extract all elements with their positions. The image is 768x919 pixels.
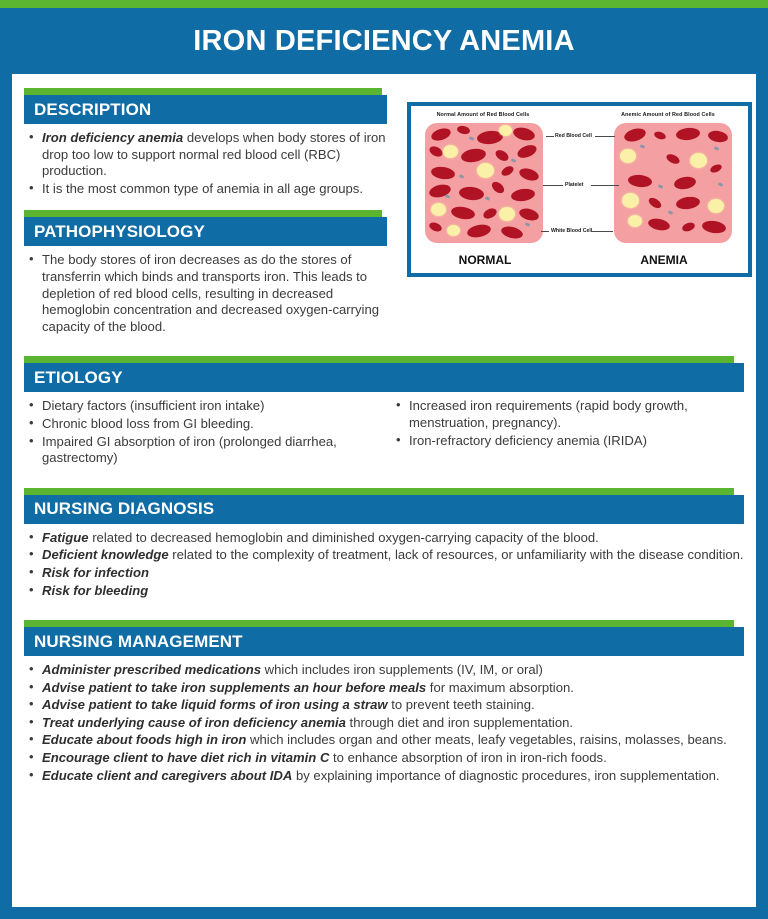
figure-caption-anemic-top: Anemic Amount of Red Blood Cells: [598, 112, 738, 118]
item-text: related to decreased hemoglobin and dimi…: [89, 530, 599, 545]
list-item: Iron-refractory deficiency anemia (IRIDA…: [391, 433, 744, 450]
white-blood-cell-icon: [708, 199, 724, 213]
list-item: Fatigue related to decreased hemoglobin …: [24, 530, 744, 547]
green-accent-bar: [24, 210, 382, 217]
anemic-blood-sample: [614, 123, 732, 243]
nursing-management-list: Administer prescribed medications which …: [24, 662, 744, 784]
blue-title-bar: NURSING DIAGNOSIS: [24, 495, 744, 524]
section-header-nursing-diagnosis: NURSING DIAGNOSIS: [24, 488, 744, 524]
green-accent-bar: [24, 88, 382, 95]
section-title-pathophysiology: PATHOPHYSIOLOGY: [34, 222, 205, 242]
list-item: Impaired GI absorption of iron (prolonge…: [24, 434, 377, 467]
item-lead: Deficient knowledge: [42, 547, 169, 562]
section-header-etiology: ETIOLOGY: [24, 356, 744, 392]
red-blood-cell-icon: [500, 225, 524, 241]
list-item: Treat underlying cause of iron deficienc…: [24, 715, 744, 732]
platelet-icon: [718, 182, 724, 187]
red-blood-cell-icon: [707, 129, 729, 143]
red-blood-cell-icon: [458, 186, 484, 202]
item-text: Impaired GI absorption of iron (prolonge…: [42, 434, 337, 466]
white-blood-cell-icon: [620, 149, 636, 163]
white-blood-cell-icon: [431, 203, 446, 216]
section-title-description: DESCRIPTION: [34, 100, 151, 120]
top-green-strip: [0, 0, 768, 8]
description-list: Iron deficiency anemia develops when bod…: [24, 130, 399, 197]
section-title-nursing-diagnosis: NURSING DIAGNOSIS: [34, 499, 214, 519]
section-header-description: DESCRIPTION: [24, 88, 399, 124]
title-banner: IRON DEFICIENCY ANEMIA: [0, 8, 768, 74]
figure-label-rbc: Red Blood Cell: [555, 133, 592, 139]
item-text: Dietary factors (insufficient iron intak…: [42, 398, 264, 413]
white-blood-cell-icon: [622, 193, 639, 208]
item-text: through diet and iron supplementation.: [346, 715, 573, 730]
red-blood-cell-icon: [675, 195, 700, 210]
item-lead: Fatigue: [42, 530, 89, 545]
white-blood-cell-icon: [628, 215, 642, 227]
red-blood-cell-icon: [430, 126, 452, 143]
item-text: by explaining importance of diagnostic p…: [292, 768, 719, 783]
item-lead: Educate client and caregivers about IDA: [42, 768, 292, 783]
list-item: Risk for infection: [24, 565, 744, 582]
red-blood-cell-icon: [709, 163, 723, 174]
spacer: [24, 198, 399, 210]
platelet-icon: [511, 158, 517, 163]
white-blood-cell-icon: [499, 125, 512, 136]
green-accent-bar: [24, 620, 734, 627]
red-blood-cell-icon: [466, 223, 492, 240]
leader-line: [546, 136, 554, 137]
red-blood-cell-icon: [430, 165, 455, 180]
blue-title-bar: NURSING MANAGEMENT: [24, 627, 744, 656]
figure-label-platelet: Platelet: [565, 182, 583, 188]
item-lead: Encourage client to have diet rich in vi…: [42, 750, 329, 765]
spacer: [24, 468, 744, 488]
red-blood-cell-icon: [518, 206, 540, 222]
white-blood-cell-icon: [477, 163, 494, 178]
item-text: which includes iron supplements (IV, IM,…: [261, 662, 543, 677]
normal-blood-sample: [425, 123, 543, 243]
etiology-left-column: Dietary factors (insufficient iron intak…: [24, 392, 391, 467]
red-blood-cell-icon: [512, 126, 536, 143]
item-lead: Risk for bleeding: [42, 583, 148, 598]
red-blood-cell-icon: [518, 166, 540, 183]
figure-caption-normal-bottom: NORMAL: [423, 253, 547, 267]
item-lead: Iron deficiency anemia: [42, 130, 183, 145]
blood-comparison-figure: Normal Amount of Red Blood Cells Anemic …: [407, 102, 752, 277]
list-item: Encourage client to have diet rich in vi…: [24, 750, 744, 767]
red-blood-cell-icon: [500, 164, 515, 177]
list-item: Chronic blood loss from GI bleeding.: [24, 416, 377, 433]
platelet-icon: [525, 222, 531, 227]
platelet-icon: [485, 196, 491, 201]
leader-line: [591, 185, 619, 186]
etiology-columns: Dietary factors (insufficient iron intak…: [24, 392, 744, 467]
poster-root: IRON DEFICIENCY ANEMIA DESCRIPTION Iron …: [0, 0, 768, 919]
description-pathophysiology-column: DESCRIPTION Iron deficiency anemia devel…: [24, 88, 399, 336]
red-blood-cell-icon: [675, 127, 700, 141]
platelet-icon: [668, 210, 674, 215]
list-item: Risk for bleeding: [24, 583, 744, 600]
list-item: Iron deficiency anemia develops when bod…: [24, 130, 399, 180]
leader-line: [591, 231, 613, 232]
red-blood-cell-icon: [627, 174, 652, 188]
red-blood-cell-icon: [647, 196, 663, 210]
item-text: The body stores of iron decreases as do …: [42, 252, 379, 333]
item-text: Chronic blood loss from GI bleeding.: [42, 416, 254, 431]
item-text: for maximum absorption.: [426, 680, 574, 695]
red-blood-cell-icon: [460, 147, 487, 164]
blue-title-bar: DESCRIPTION: [24, 95, 387, 124]
content-panel: DESCRIPTION Iron deficiency anemia devel…: [12, 74, 756, 907]
white-blood-cell-icon: [690, 153, 707, 168]
red-blood-cell-icon: [516, 143, 539, 161]
list-item: It is the most common type of anemia in …: [24, 181, 399, 198]
red-blood-cell-icon: [701, 219, 726, 234]
item-lead: Risk for infection: [42, 565, 149, 580]
red-blood-cell-icon: [673, 175, 697, 191]
red-blood-cell-icon: [510, 187, 535, 202]
list-item: Educate about foods high in iron which i…: [24, 732, 744, 749]
section-header-pathophysiology: PATHOPHYSIOLOGY: [24, 210, 399, 246]
section-title-etiology: ETIOLOGY: [34, 368, 123, 388]
leader-line: [543, 185, 563, 186]
item-text: Increased iron requirements (rapid body …: [409, 398, 688, 430]
red-blood-cell-icon: [647, 217, 671, 232]
section-header-nursing-management: NURSING MANAGEMENT: [24, 620, 744, 656]
nursing-diagnosis-list: Fatigue related to decreased hemoglobin …: [24, 530, 744, 599]
item-text: which includes organ and other meats, le…: [246, 732, 726, 747]
red-blood-cell-icon: [456, 125, 470, 136]
etiology-left-list: Dietary factors (insufficient iron intak…: [24, 398, 377, 466]
green-accent-bar: [24, 488, 734, 495]
list-item: Advise patient to take liquid forms of i…: [24, 697, 744, 714]
item-lead: Educate about foods high in iron: [42, 732, 246, 747]
platelet-icon: [640, 144, 646, 149]
platelet-icon: [459, 174, 465, 179]
item-lead: Advise patient to take liquid forms of i…: [42, 697, 388, 712]
item-text: to enhance absorption of iron in iron-ri…: [329, 750, 606, 765]
item-text: to prevent teeth staining.: [388, 697, 535, 712]
description-figure-row: DESCRIPTION Iron deficiency anemia devel…: [24, 88, 744, 336]
platelet-icon: [658, 184, 664, 189]
spacer: [24, 600, 744, 620]
blue-title-bar: ETIOLOGY: [24, 363, 744, 392]
figure-inner: Normal Amount of Red Blood Cells Anemic …: [415, 110, 744, 269]
etiology-right-column: Increased iron requirements (rapid body …: [391, 392, 744, 467]
red-blood-cell-icon: [665, 152, 681, 165]
page-title: IRON DEFICIENCY ANEMIA: [193, 25, 574, 58]
item-lead: Administer prescribed medications: [42, 662, 261, 677]
list-item: Dietary factors (insufficient iron intak…: [24, 398, 377, 415]
red-blood-cell-icon: [494, 148, 511, 163]
item-text: Iron-refractory deficiency anemia (IRIDA…: [409, 433, 647, 448]
list-item: Increased iron requirements (rapid body …: [391, 398, 744, 431]
red-blood-cell-icon: [482, 206, 499, 220]
platelet-icon: [445, 194, 451, 199]
item-lead: Advise patient to take iron supplements …: [42, 680, 426, 695]
platelet-icon: [714, 146, 720, 151]
red-blood-cell-icon: [428, 144, 445, 159]
item-lead: Treat underlying cause of iron deficienc…: [42, 715, 346, 730]
leader-line: [595, 136, 615, 137]
red-blood-cell-icon: [681, 221, 696, 233]
list-item: Administer prescribed medications which …: [24, 662, 744, 679]
red-blood-cell-icon: [428, 221, 443, 233]
pathophysiology-list: The body stores of iron decreases as do …: [24, 252, 399, 335]
red-blood-cell-icon: [450, 205, 476, 221]
white-blood-cell-icon: [499, 207, 515, 221]
figure-caption-anemic-bottom: ANEMIA: [594, 253, 734, 267]
spacer: [24, 336, 744, 356]
list-item: The body stores of iron decreases as do …: [24, 252, 399, 335]
white-blood-cell-icon: [447, 225, 460, 236]
list-item: Advise patient to take iron supplements …: [24, 680, 744, 697]
red-blood-cell-icon: [653, 130, 667, 140]
list-item: Deficient knowledge related to the compl…: [24, 547, 744, 564]
section-title-nursing-management: NURSING MANAGEMENT: [34, 632, 243, 652]
white-blood-cell-icon: [443, 145, 458, 158]
red-blood-cell-icon: [490, 180, 507, 196]
green-accent-bar: [24, 356, 734, 363]
item-text: related to the complexity of treatment, …: [169, 547, 744, 562]
item-text: It is the most common type of anemia in …: [42, 181, 363, 196]
blue-title-bar: PATHOPHYSIOLOGY: [24, 217, 387, 246]
etiology-right-list: Increased iron requirements (rapid body …: [391, 398, 744, 449]
list-item: Educate client and caregivers about IDA …: [24, 768, 744, 785]
leader-line: [541, 231, 549, 232]
figure-label-wbc: White Blood Cell: [551, 228, 592, 234]
figure-column: Normal Amount of Red Blood Cells Anemic …: [399, 88, 752, 277]
red-blood-cell-icon: [623, 126, 647, 144]
platelet-icon: [469, 136, 475, 141]
figure-caption-normal-top: Normal Amount of Red Blood Cells: [419, 112, 547, 118]
